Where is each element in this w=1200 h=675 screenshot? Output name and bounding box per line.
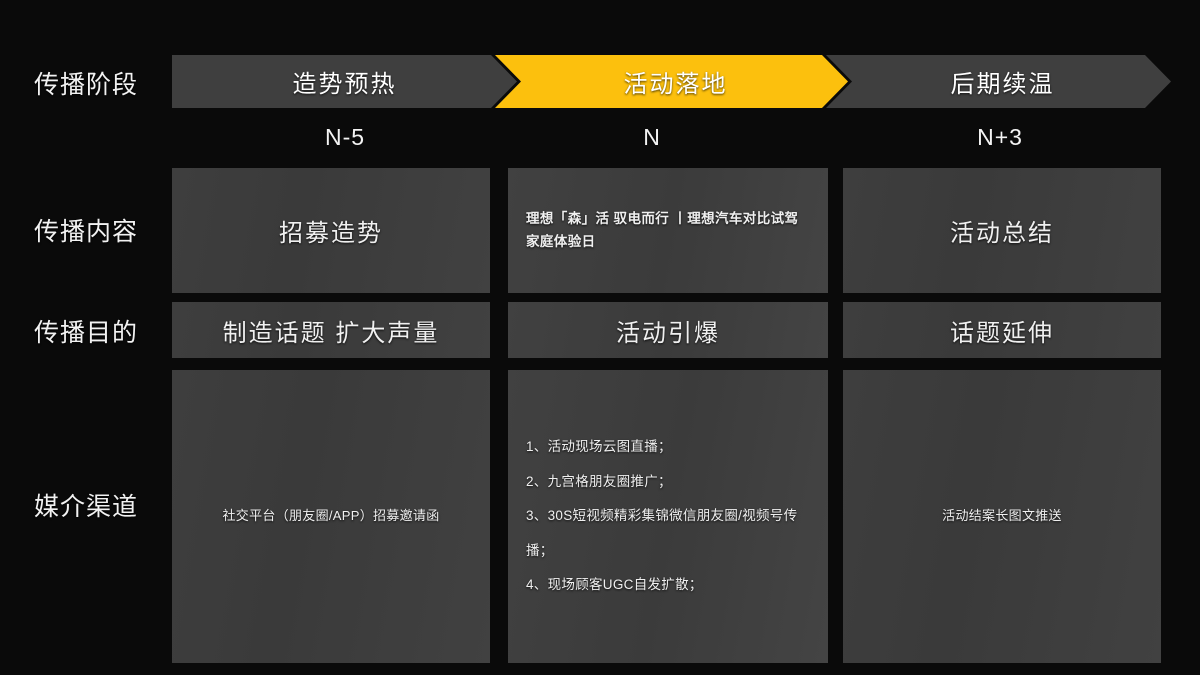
purpose-cell-2-text: 活动引爆 (616, 313, 720, 348)
purpose-cell-3-text: 话题延伸 (950, 313, 1054, 348)
content-cell-1-text: 招募造势 (279, 213, 383, 248)
media-cell-3[interactable]: 活动结案长图文推送 (843, 370, 1161, 663)
stage-arrow-2[interactable]: 活动落地 (495, 55, 848, 108)
row-label-content: 传播内容 (0, 212, 172, 248)
stage-arrow-1-label: 造势预热 (293, 64, 397, 99)
list-item: 4、现场顾客UGC自发扩散； (526, 568, 810, 602)
list-item: 2、九宫格朋友圈推广； (526, 465, 810, 499)
purpose-cell-1-text: 制造话题 扩大声量 (223, 313, 440, 348)
stage-arrow-3[interactable]: 后期续温 (826, 55, 1171, 108)
purpose-cell-2[interactable]: 活动引爆 (508, 302, 828, 358)
slide-canvas: 传播阶段 传播内容 传播目的 媒介渠道 造势预热 活动落地 后期续温 N-5 N… (0, 0, 1200, 675)
row-label-media: 媒介渠道 (0, 487, 172, 523)
stage-arrow-2-label: 活动落地 (616, 64, 728, 99)
content-cell-2[interactable]: 理想「森」活 驭电而行 丨理想汽车对比试驾家庭体验日 (508, 168, 828, 293)
content-cell-3[interactable]: 活动总结 (843, 168, 1161, 293)
day-marker-1: N-5 (255, 124, 435, 151)
content-cell-1[interactable]: 招募造势 (172, 168, 490, 293)
stage-arrow-3-label: 后期续温 (943, 64, 1055, 99)
row-label-purpose: 传播目的 (0, 313, 172, 349)
content-cell-3-text: 活动总结 (950, 213, 1054, 248)
purpose-cell-1[interactable]: 制造话题 扩大声量 (172, 302, 490, 358)
media-cell-2[interactable]: 1、活动现场云图直播； 2、九宫格朋友圈推广； 3、30S短视频精彩集锦微信朋友… (508, 370, 828, 663)
media-channel-list: 1、活动现场云图直播； 2、九宫格朋友圈推广； 3、30S短视频精彩集锦微信朋友… (508, 430, 828, 602)
media-cell-1-text: 社交平台（朋友圈/APP）招募邀请函 (222, 506, 439, 527)
media-cell-3-text: 活动结案长图文推送 (942, 506, 1062, 527)
purpose-cell-3[interactable]: 话题延伸 (843, 302, 1161, 358)
day-marker-2: N (562, 124, 742, 151)
day-marker-3: N+3 (910, 124, 1090, 151)
media-cell-1[interactable]: 社交平台（朋友圈/APP）招募邀请函 (172, 370, 490, 663)
row-label-stage: 传播阶段 (0, 65, 172, 101)
stage-arrow-1[interactable]: 造势预热 (172, 55, 517, 108)
list-item: 3、30S短视频精彩集锦微信朋友圈/视频号传播； (526, 499, 810, 568)
content-cell-2-text: 理想「森」活 驭电而行 丨理想汽车对比试驾家庭体验日 (508, 208, 828, 253)
list-item: 1、活动现场云图直播； (526, 430, 810, 464)
